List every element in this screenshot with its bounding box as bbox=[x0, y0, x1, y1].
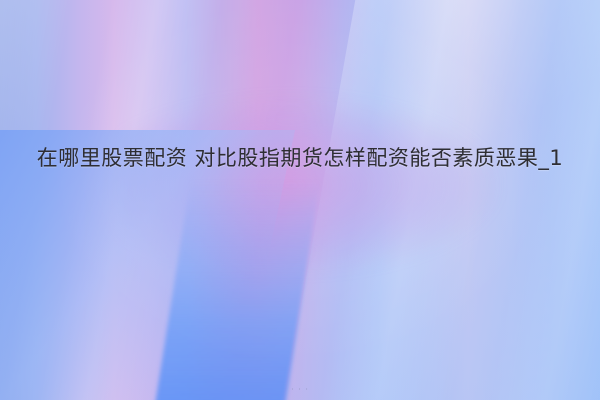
banner-title: 在哪里股票配资 对比股指期货怎样配资能否素质恶果_1 bbox=[0, 140, 600, 177]
footer-mark: · · · bbox=[0, 385, 600, 394]
gradient-banner: 在哪里股票配资 对比股指期货怎样配资能否素质恶果_1 · · · bbox=[0, 0, 600, 400]
background-vignette bbox=[0, 0, 600, 400]
